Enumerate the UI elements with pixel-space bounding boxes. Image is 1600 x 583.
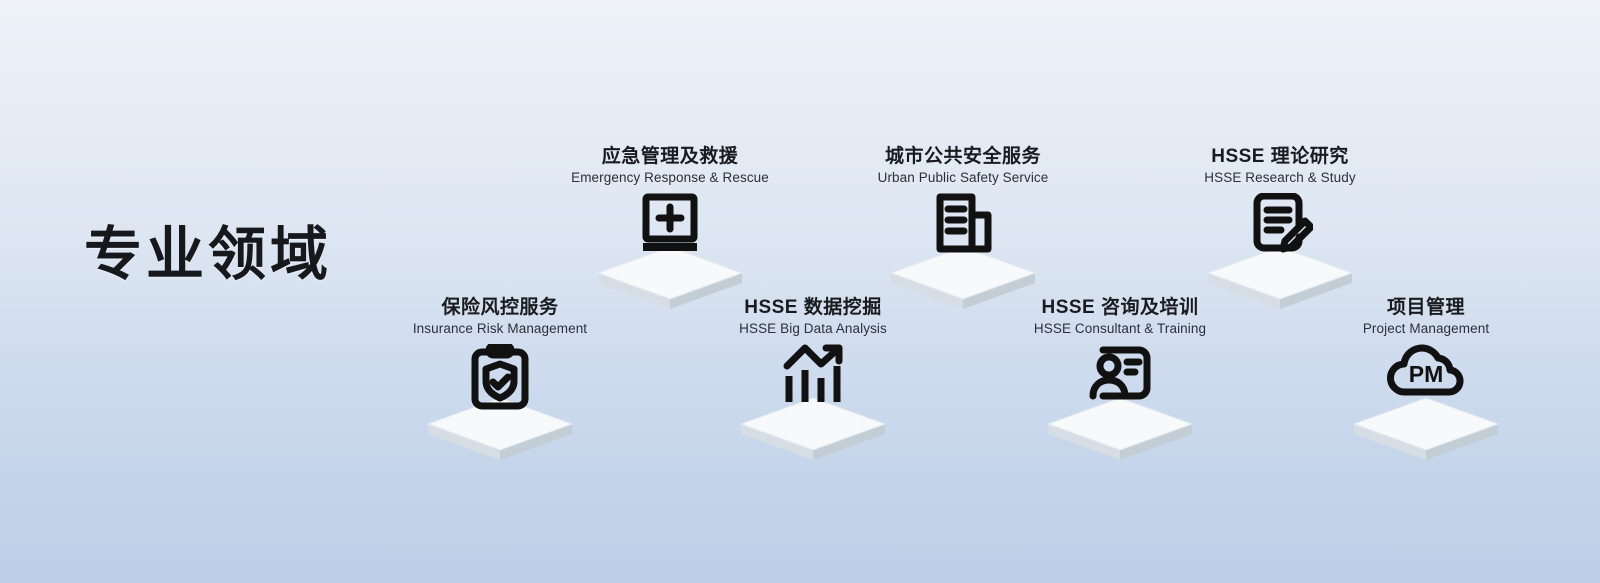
service-item-project-management[interactable]: 项目管理Project ManagementPM — [1281, 296, 1571, 462]
service-label-cn: HSSE 咨询及培训 — [975, 296, 1265, 319]
service-label-cn: 项目管理 — [1281, 296, 1571, 319]
service-item-urban-public-safety-service[interactable]: 城市公共安全服务Urban Public Safety Service — [818, 145, 1108, 311]
person-id-card-icon — [1040, 344, 1200, 462]
service-item-emergency-response-rescue[interactable]: 应急管理及救援Emergency Response & Rescue — [525, 145, 815, 311]
service-label-cn: 城市公共安全服务 — [818, 145, 1108, 168]
medical-report-plus-icon — [590, 193, 750, 311]
professional-fields-banner: 专业领域 应急管理及救援Emergency Response & Rescue城… — [0, 0, 1600, 583]
service-label-en: HSSE Research & Study — [1135, 169, 1425, 187]
service-pedestal — [420, 344, 580, 462]
service-label-cn: 应急管理及救援 — [525, 145, 815, 168]
service-pedestal — [883, 193, 1043, 311]
service-label-en: Insurance Risk Management — [355, 320, 645, 338]
service-pedestal — [733, 344, 893, 462]
service-item-hsse-big-data-analysis[interactable]: HSSE 数据挖掘HSSE Big Data Analysis — [668, 296, 958, 462]
service-item-insurance-risk-management[interactable]: 保险风控服务Insurance Risk Management — [355, 296, 645, 462]
service-label-cn: HSSE 数据挖掘 — [668, 296, 958, 319]
clipboard-shield-check-icon — [420, 344, 580, 462]
service-label-en: Emergency Response & Rescue — [525, 169, 815, 187]
page-title: 专业领域 — [84, 226, 332, 284]
service-label-en: HSSE Consultant & Training — [975, 320, 1265, 338]
service-label-en: HSSE Big Data Analysis — [668, 320, 958, 338]
service-label-en: Project Management — [1281, 320, 1571, 338]
service-item-hsse-research-study[interactable]: HSSE 理论研究HSSE Research & Study — [1135, 145, 1425, 311]
service-pedestal — [1040, 344, 1200, 462]
service-label-en: Urban Public Safety Service — [818, 169, 1108, 187]
document-pencil-icon — [1200, 193, 1360, 311]
service-label-cn: 保险风控服务 — [355, 296, 645, 319]
service-pedestal — [590, 193, 750, 311]
service-pedestal — [1200, 193, 1360, 311]
bar-chart-trend-up-icon — [733, 344, 893, 462]
service-item-hsse-consultant-training[interactable]: HSSE 咨询及培训HSSE Consultant & Training — [975, 296, 1265, 462]
service-pedestal: PM — [1346, 344, 1506, 462]
service-label-cn: HSSE 理论研究 — [1135, 145, 1425, 168]
city-buildings-icon — [883, 193, 1043, 311]
svg-text:PM: PM — [1409, 361, 1444, 387]
cloud-pm-icon: PM — [1346, 344, 1506, 462]
